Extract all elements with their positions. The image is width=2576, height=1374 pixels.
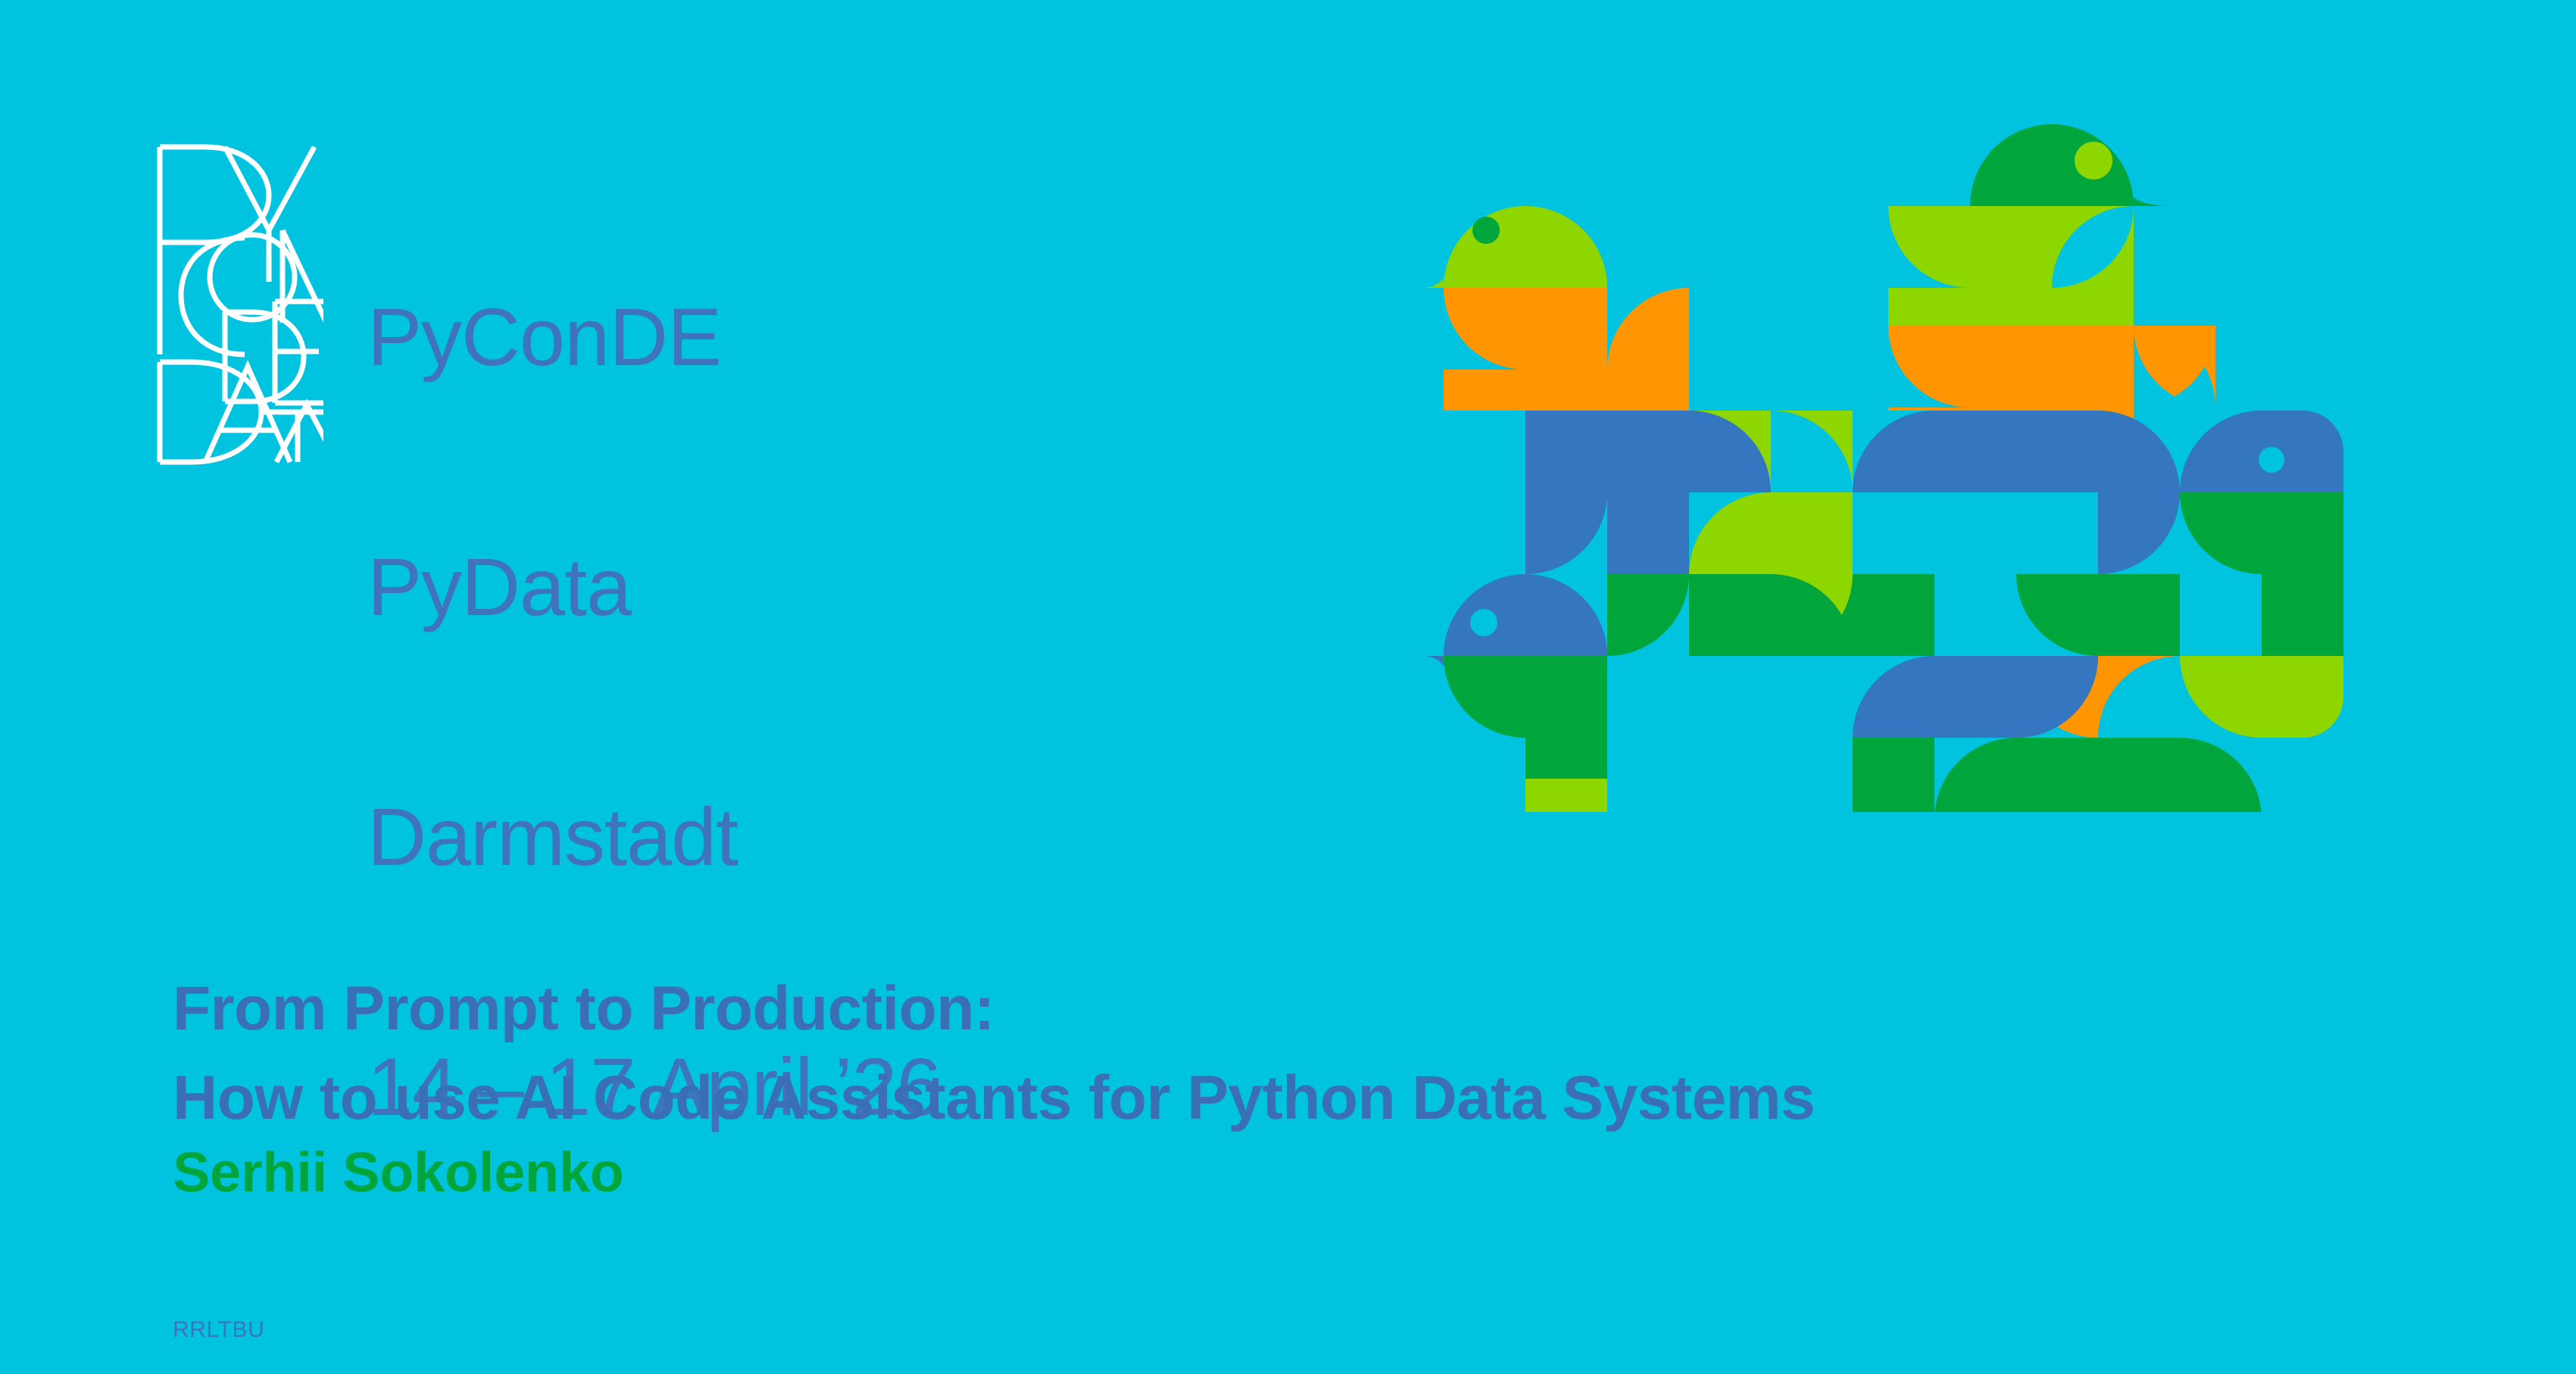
pyconde-pydata-logo-mark — [155, 141, 323, 468]
bird-illustration — [1427, 47, 2347, 812]
bird-illustration-svg — [1427, 47, 2347, 812]
slide-code: RRLTBU — [173, 1316, 264, 1344]
page-title: From Prompt to Production: How to use AI… — [173, 964, 2369, 1143]
speaker-name: Serhii Sokolenko — [173, 1138, 624, 1207]
wordmark-line-pyconde: PyConDE — [367, 295, 941, 379]
talk-title-line-1: From Prompt to Production: — [173, 964, 2369, 1054]
wordmark-line-city: Darmstadt — [367, 795, 941, 879]
slide-root: PyConDE PyData Darmstadt 14 – 17 April ’… — [0, 0, 2576, 1374]
wordmark-line-pydata: PyData — [367, 545, 941, 629]
talk-title-line-2: How to use AI Code Assistants for Python… — [173, 1054, 2369, 1143]
